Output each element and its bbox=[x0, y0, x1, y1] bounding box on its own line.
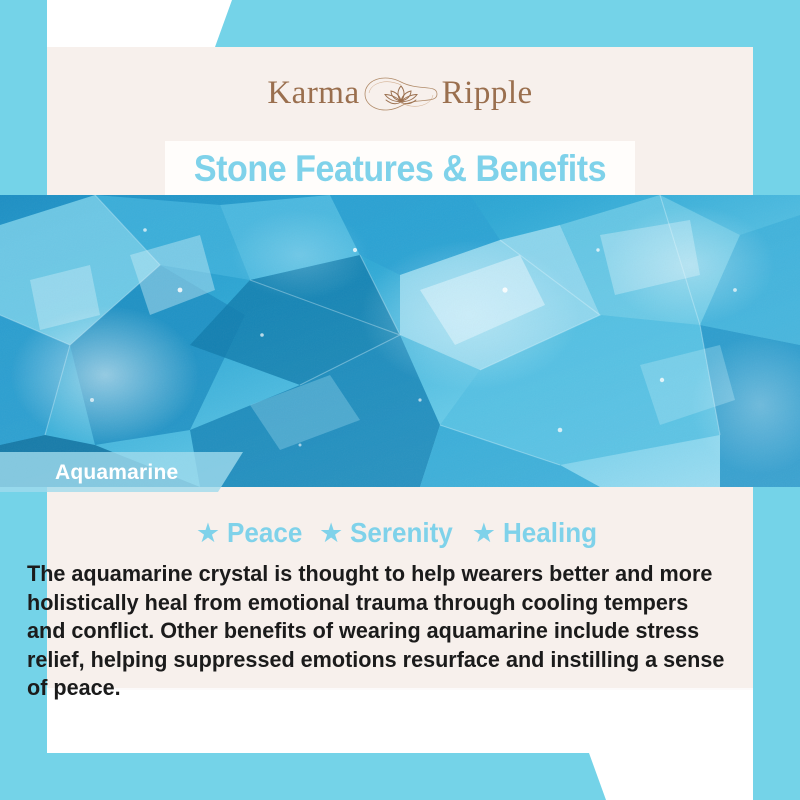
stone-name-label: Aquamarine bbox=[0, 452, 243, 492]
keyword-label: Serenity bbox=[350, 519, 453, 547]
title-banner: Stone Features & Benefits bbox=[165, 141, 635, 195]
star-icon: ★ bbox=[196, 520, 220, 547]
page-title: Stone Features & Benefits bbox=[194, 150, 606, 187]
keyword-label: Healing bbox=[503, 519, 597, 547]
keyword-label: Peace bbox=[227, 519, 302, 547]
brand-word-karma: Karma bbox=[267, 77, 359, 110]
crystal-photo-art bbox=[0, 195, 800, 487]
crystal-photo bbox=[0, 195, 800, 487]
stone-name-text: Aquamarine bbox=[55, 462, 178, 483]
star-icon: ★ bbox=[472, 520, 496, 547]
keyword-item: ★ Healing bbox=[472, 519, 604, 547]
brand-header: Karma Ripple bbox=[0, 47, 800, 140]
decor-band-top bbox=[215, 0, 800, 47]
brand-word-ripple: Ripple bbox=[442, 77, 533, 110]
lotus-infinity-icon bbox=[364, 71, 438, 117]
keyword-item: ★ Peace bbox=[196, 519, 308, 547]
description-paragraph: The aquamarine crystal is thought to hel… bbox=[27, 560, 730, 703]
star-icon: ★ bbox=[319, 520, 343, 547]
brand-logo: Karma Ripple bbox=[267, 71, 532, 117]
keyword-row: ★ Peace ★ Serenity ★ Healing bbox=[0, 516, 800, 550]
stone-benefits-card: Karma Ripple Stone Fe bbox=[0, 0, 800, 800]
keyword-item: ★ Serenity bbox=[319, 519, 461, 547]
decor-band-bottom bbox=[0, 753, 606, 800]
